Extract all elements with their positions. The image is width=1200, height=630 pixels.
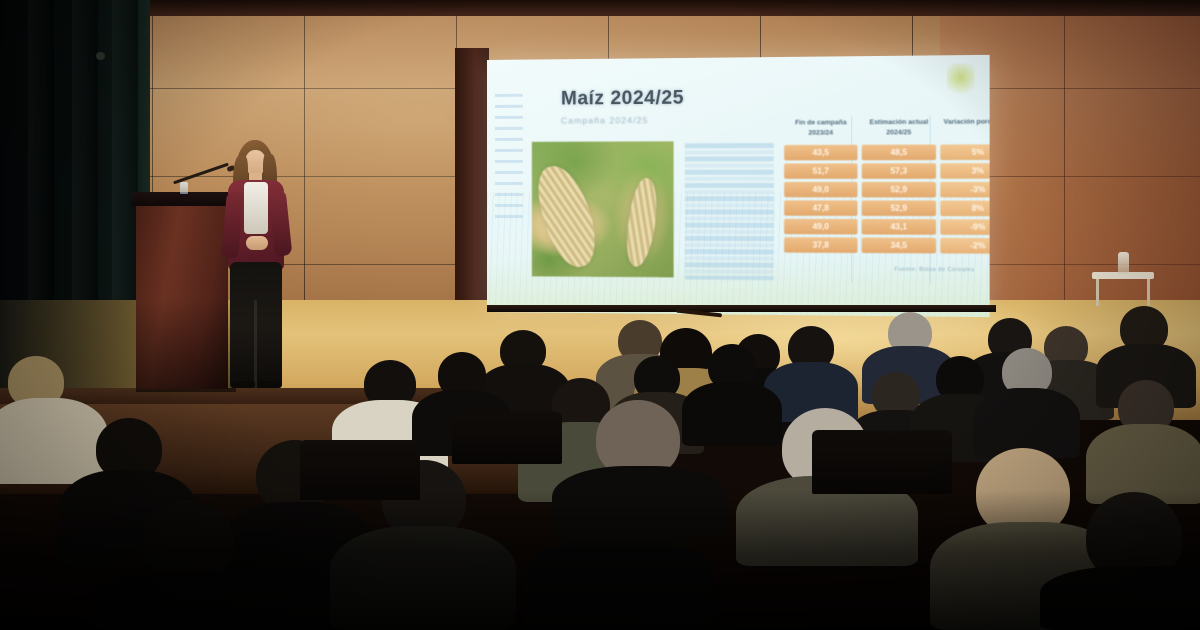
audience-shoulders [330, 526, 516, 630]
side-table [1092, 272, 1154, 306]
audience-shoulders [92, 572, 288, 630]
data-cell: 47,8 [784, 200, 857, 216]
corn-cob-icon [530, 159, 603, 272]
seat-back [812, 430, 952, 494]
slide-row-labels [685, 143, 774, 280]
data-cell: 8% [940, 201, 989, 217]
audience-shoulders [1040, 566, 1200, 630]
data-cell: -2% [940, 238, 989, 254]
data-cell: 5% [940, 144, 989, 160]
seat-back [300, 440, 420, 500]
slide-column-2: Estimación actual 2024/25 48,5 57,3 52,9… [862, 118, 936, 254]
slide-column-3: Variación porcentual 5% 3% -3% 8% -9% -2… [940, 117, 989, 254]
data-cell: 57,3 [862, 163, 936, 179]
slide-logo-icon [947, 63, 975, 94]
column-header: Estimación actual 2024/25 [862, 118, 936, 141]
data-cell: 43,5 [784, 145, 857, 161]
data-cell: 49,0 [784, 182, 857, 197]
column-header: Variación porcentual [940, 117, 989, 140]
data-cell: -3% [940, 182, 989, 198]
projection-screen: Maíz 2024/25 Campaña 2024/25 Fin de camp… [487, 55, 990, 317]
slide-source-note: Fuente: Bolsa de Cereales [894, 267, 974, 274]
curtain-hook [96, 52, 105, 60]
audience-shoulders [682, 382, 782, 446]
screen-bottom-rail [487, 305, 996, 312]
column-header: Fin de campaña 2023/24 [784, 118, 857, 141]
slide-title: Maíz 2024/25 [561, 87, 684, 110]
corn-cob-icon [622, 176, 662, 268]
corn-photo [532, 141, 674, 277]
ceiling-strip [0, 0, 1200, 16]
data-cell: 43,1 [862, 219, 936, 235]
slide-subtitle: Campaña 2024/25 [561, 115, 649, 126]
slide-column-1: Fin de campaña 2023/24 43,5 51,7 49,0 47… [784, 118, 857, 253]
speaker-presenter [216, 140, 294, 388]
speaker-white-top [244, 182, 268, 234]
speaker-leg-seam [254, 300, 257, 388]
water-bottle [180, 182, 188, 194]
data-cell: 51,7 [784, 163, 857, 178]
conference-photo-scene: Maíz 2024/25 Campaña 2024/25 Fin de camp… [0, 0, 1200, 630]
data-cell: 52,9 [862, 182, 936, 198]
data-cell: 49,0 [784, 219, 857, 235]
data-cell: 3% [940, 163, 989, 179]
audience-shoulders [0, 398, 108, 484]
audience-shoulders [552, 466, 728, 540]
speaker-shoe [232, 381, 255, 388]
audience-shoulders [524, 538, 714, 630]
data-cell: 37,8 [784, 237, 857, 253]
speaker-shoe [258, 381, 281, 388]
seat-back [452, 412, 562, 464]
water-carafe [1118, 252, 1129, 274]
data-cell: 52,9 [862, 200, 936, 216]
data-cell: 34,5 [862, 238, 936, 254]
data-cell: -9% [940, 219, 989, 235]
slide-sidebar-text [495, 94, 523, 224]
data-cell: 48,5 [862, 145, 936, 161]
speaker-hands [246, 236, 268, 250]
